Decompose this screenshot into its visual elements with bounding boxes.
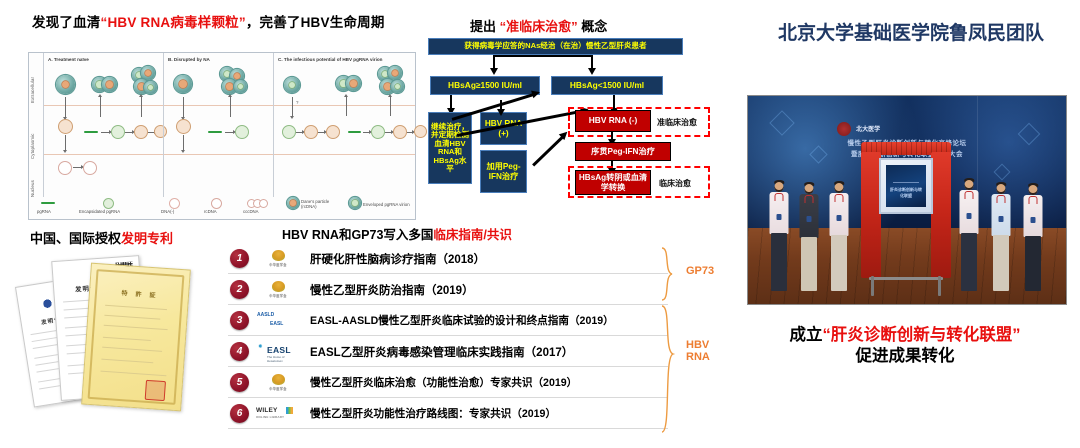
guidelines-list: 1 中华医学会 肝硬化肝性脑病诊疗指南（2018） 2 中华医学会 慢性乙型肝炎…: [228, 244, 668, 436]
photo-person: [826, 180, 852, 298]
item-badge-6: 6: [230, 404, 249, 423]
cma-logo-icon: 中华医学会: [256, 372, 300, 393]
right-panel-title: 北京大学基础医学院鲁凤民团队: [756, 18, 1066, 45]
treatment-flowchart: 获得病毒学应答的NAs经治（在治）慢性乙型肝炎患者 HBsAg≥1500 IU/…: [425, 38, 710, 218]
photo-person: [988, 180, 1014, 298]
bracket-label-hbv-rna: HBV RNA: [686, 340, 726, 364]
item-title-1: 肝硬化肝性脑病诊疗指南（2018）: [310, 244, 485, 273]
easl-logo-icon: ✸ EASL The Home of Hepatology: [256, 341, 300, 362]
patents-heading: 中国、国际授权发明专利: [30, 228, 173, 247]
item-title-6: 慢性乙型肝炎功能性治疗路线图：专家共识（2019）: [310, 399, 556, 428]
list-item[interactable]: 1 中华医学会 肝硬化肝性脑病诊疗指南（2018）: [228, 244, 668, 274]
flow-node-continue-treatment[interactable]: 继续治疗，并定期检测血清HBV RNA和HBsAg水平: [428, 112, 472, 184]
virology-figure: Extracellular Cytoplasmic Nucleus A. Tre…: [28, 52, 416, 220]
legend-encapsidated-pgrna: Encapsidated pgRNA: [79, 209, 120, 214]
item-title-3: EASL-AASLD慢性乙型肝炎临床试验的设计和终点指南（2019）: [310, 306, 614, 335]
guidelines-heading: HBV RNA和GP73写入多国临床指南/共识: [282, 224, 512, 243]
pku-medicine-logo-icon: [837, 122, 851, 136]
list-item[interactable]: 6 WILEY ONLINE LIBRARY 慢性乙型肝炎功能性治疗路线图：专家…: [228, 399, 668, 429]
cma-logo-icon: 中华医学会: [256, 279, 300, 300]
photo-org-logo-text: 北大医学: [856, 124, 880, 133]
flowchart-heading-quoted: “准临床治愈”: [500, 19, 578, 34]
ceremony-photo: 北大医学 慢性乙型肝炎诊断创新与转化高峰论坛 暨肝炎诊断创新与转化联盟成立大会: [747, 95, 1067, 305]
photo-person: [956, 178, 982, 298]
figure-legend: pgRNA Encapsidated pgRNA DNA(-) rcDNA cc…: [31, 197, 413, 218]
heading-quoted: “HBV RNA病毒样颗粒”: [101, 15, 246, 30]
caption-line-1: 成立“肝炎诊断创新与转化联盟”: [740, 325, 1070, 346]
patents-heading-black: 中国、国际授权: [30, 231, 121, 246]
figure-side-label-cytoplasmic: Cytoplasmic: [30, 107, 35, 159]
caption-quoted: “肝炎诊断创新与转化联盟”: [823, 326, 1021, 344]
label-quasi-clinical-cure: 准临床治愈: [657, 117, 697, 128]
legend-cccdna: cccDNA: [243, 209, 259, 214]
item-badge-2: 2: [230, 280, 249, 299]
flow-node-hbsag-low[interactable]: HBsAg<1500 IU/ml: [551, 76, 663, 95]
figure-panel-c: C. The infectious potential of HBV pgRNA…: [273, 53, 415, 197]
photo-plaque: 肝炎诊断创新与转化联盟: [879, 158, 933, 214]
item-badge-1: 1: [230, 249, 249, 268]
patents-heading-red: 发明专利: [121, 231, 173, 246]
figure-panels: A. Treatment naïve: [43, 53, 415, 197]
flow-node-hbsag-loss[interactable]: HBsAg转阴或血清学转换: [575, 170, 651, 195]
list-item[interactable]: 4 ✸ EASL The Home of Hepatology EASL乙型肝炎…: [228, 337, 668, 367]
plaque-text: 肝炎诊断创新与转化联盟: [890, 187, 922, 199]
list-item[interactable]: 2 中华医学会 慢性乙型肝炎防治指南（2019）: [228, 275, 668, 305]
flow-node-hbsag-high[interactable]: HBsAg≥1500 IU/ml: [430, 76, 540, 95]
cma-logo-icon: 中华医学会: [256, 248, 300, 269]
patent-certificates: 发明专利证书 发明专利证书: [24, 252, 229, 432]
item-badge-5: 5: [230, 373, 249, 392]
figure-panel-b: B. Disrupted by NA: [163, 53, 274, 197]
figure-side-label-extracellular: Extracellular: [30, 59, 35, 103]
guidelines-heading-red: 临床指南/共识: [433, 228, 511, 242]
heading-prefix: 发现了血清: [32, 15, 101, 30]
figure-panel-a-label: A. Treatment naïve: [48, 57, 89, 62]
flow-node-root[interactable]: 获得病毒学应答的NAs经治（在治）慢性乙型肝炎患者: [428, 38, 683, 55]
right-panel-caption: 成立“肝炎诊断创新与转化联盟” 促进成果转化: [740, 325, 1070, 368]
aasld-easl-logo-icon: AASLD EASL: [256, 310, 300, 331]
top-left-heading: 发现了血清“HBV RNA病毒样颗粒”，完善了HBV生命周期: [32, 15, 422, 32]
caption-prefix: 成立: [790, 326, 823, 344]
wiley-logo-icon: WILEY ONLINE LIBRARY: [256, 403, 300, 424]
heading-suffix: ，完善了HBV生命周期: [246, 15, 385, 30]
photo-person: [766, 180, 792, 298]
legend-enveloped-pgrna-virion: Enveloped pgRNA virion: [363, 202, 410, 207]
legend-dane-particle: Dane's particle (rcDNA): [301, 200, 345, 210]
legend-rcdna: rcDNA: [204, 209, 217, 214]
photo-person: [1020, 180, 1046, 298]
item-badge-4: 4: [230, 342, 249, 361]
item-title-5: 慢性乙型肝炎临床治愈（功能性治愈）专家共识（2019）: [310, 368, 577, 397]
list-item[interactable]: 3 AASLD EASL EASL-AASLD慢性乙型肝炎临床试验的设计和终点指…: [228, 306, 668, 336]
photo-person: [796, 180, 822, 298]
guidelines-heading-black: HBV RNA和GP73写入多国: [282, 228, 433, 242]
guidelines-brackets: [660, 246, 682, 436]
patent-certificate-3[interactable]: 特 許 証: [81, 263, 191, 412]
figure-panel-a: A. Treatment naïve: [43, 53, 164, 197]
legend-pgrna: pgRNA: [37, 209, 51, 214]
legend-dna-minus: DNA(-): [161, 209, 174, 214]
caption-line-2: 促进成果转化: [740, 346, 1070, 367]
figure-panel-b-label: B. Disrupted by NA: [168, 57, 210, 62]
photo-plaque-assembly: 肝炎诊断创新与转化联盟: [861, 142, 951, 296]
item-title-2: 慢性乙型肝炎防治指南（2019）: [310, 275, 474, 304]
figure-side-label-nucleus: Nucleus: [30, 163, 35, 197]
slide-root: 发现了血清“HBV RNA病毒样颗粒”，完善了HBV生命周期 Extracell…: [0, 0, 1080, 448]
item-badge-3: 3: [230, 311, 249, 330]
flowchart-heading-prefix: 提出: [470, 19, 496, 34]
flowchart-heading-suffix: 概念: [581, 19, 607, 34]
figure-panel-c-label: C. The infectious potential of HBV pgRNA…: [278, 57, 382, 62]
item-title-4: EASL乙型肝炎病毒感染管理临床实践指南（2017）: [310, 337, 573, 366]
list-item[interactable]: 5 中华医学会 慢性乙型肝炎临床治愈（功能性治愈）专家共识（2019）: [228, 368, 668, 398]
bracket-label-gp73: GP73: [686, 266, 714, 278]
flow-node-sequential-pegifn[interactable]: 序贯Peg-IFN治疗: [575, 142, 671, 161]
flow-node-add-pegifn[interactable]: 加用Peg-IFN治疗: [480, 150, 527, 193]
label-clinical-cure: 临床治愈: [659, 178, 691, 189]
flowchart-heading: 提出 “准临床治愈” 概念: [470, 16, 710, 35]
flow-node-hbv-rna-negative[interactable]: HBV RNA (-): [575, 110, 651, 132]
